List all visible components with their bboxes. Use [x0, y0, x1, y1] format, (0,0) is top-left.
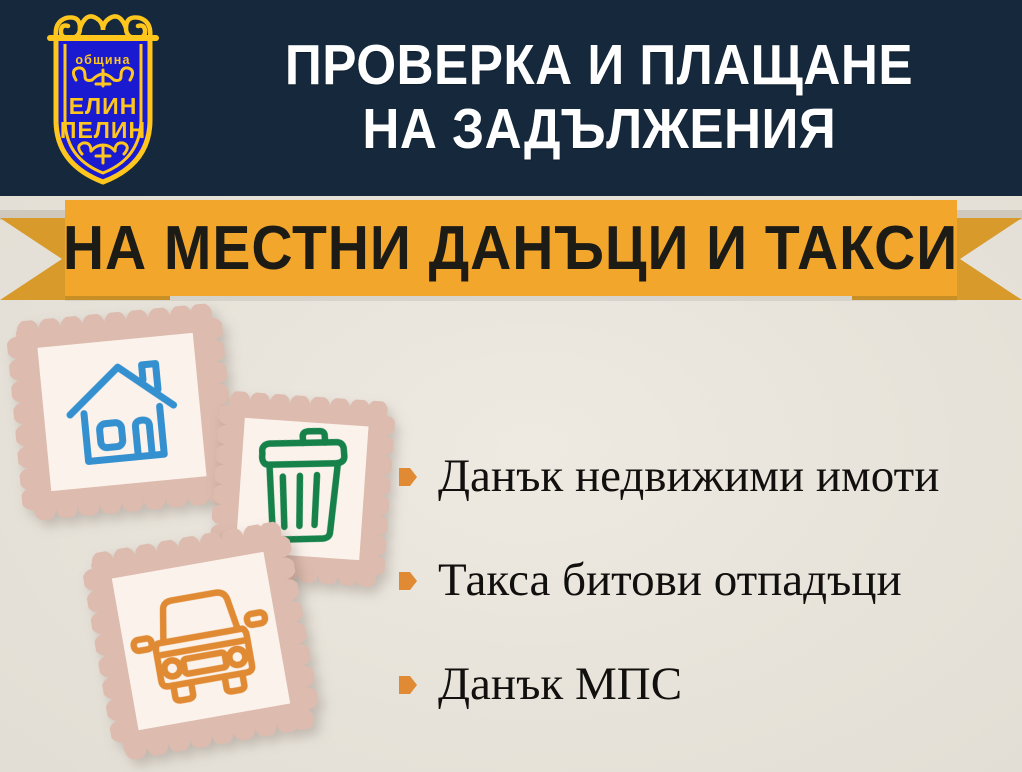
poster-title: ПРОВЕРКА И ПЛАЩАНЕ НА ЗАДЪЛЖЕНИЯ: [186, 16, 1012, 180]
tax-types-list: Данък недвижими имоти Такса битови отпад…: [398, 424, 1010, 736]
title-line-1: ПРОВЕРКА И ПЛАЩАНЕ: [285, 34, 913, 98]
list-item-label: Данък недвижими имоти: [438, 453, 939, 500]
list-item[interactable]: Данък МПС: [398, 632, 1010, 736]
stamp-paper: [37, 333, 206, 491]
list-item-label: Такса битови отпадъци: [438, 557, 902, 604]
crest-municipality-word: община: [75, 53, 130, 67]
stamp-card-property: [5, 302, 239, 522]
list-item[interactable]: Такса битови отпадъци: [398, 528, 1010, 632]
bullet-arrow-icon: [398, 569, 418, 593]
list-item-label: Данък МПС: [438, 661, 682, 708]
poster-root: община ЕЛИН ПЕЛИН ПРОВЕ: [0, 0, 1022, 772]
crest-icon: община ЕЛИН ПЕЛИН: [28, 8, 178, 188]
ribbon-text: НА МЕСТНИ ДАНЪЦИ И ТАКСИ: [63, 213, 958, 284]
bullet-arrow-icon: [398, 465, 418, 489]
subtitle-ribbon: НА МЕСТНИ ДАНЪЦИ И ТАКСИ: [0, 196, 1022, 308]
list-item[interactable]: Данък недвижими имоти: [398, 424, 1010, 528]
municipality-crest-logo: община ЕЛИН ПЕЛИН: [28, 8, 178, 188]
crest-name-line-2: ПЕЛИН: [60, 117, 146, 143]
ribbon-banner: НА МЕСТНИ ДАНЪЦИ И ТАКСИ: [65, 200, 957, 296]
bullet-arrow-icon: [398, 673, 418, 697]
stamp-card-vehicle: [79, 519, 322, 762]
title-line-2: НА ЗАДЪЛЖЕНИЯ: [362, 98, 836, 162]
crest-name-line-1: ЕЛИН: [69, 93, 138, 119]
